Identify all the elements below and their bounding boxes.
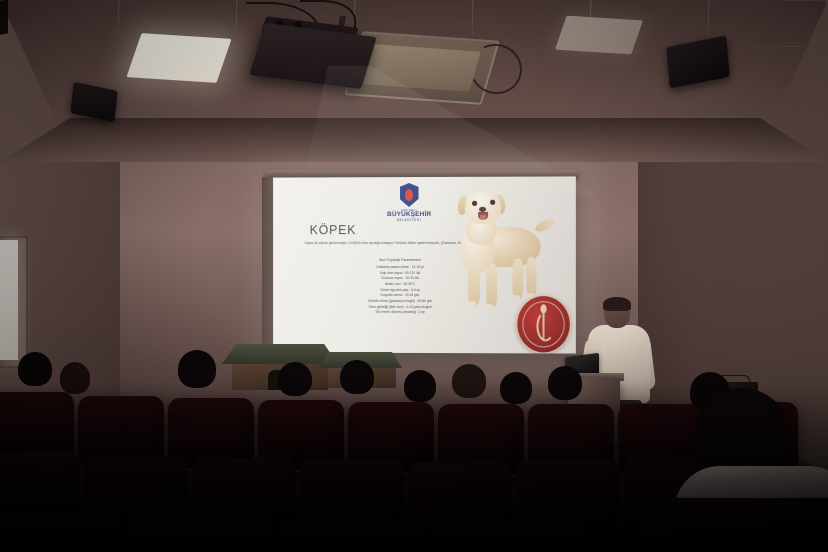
dog-paw xyxy=(467,301,476,306)
audience-head xyxy=(340,360,374,394)
seat xyxy=(432,520,582,552)
seat xyxy=(0,516,120,552)
audience-head xyxy=(548,366,582,400)
seat xyxy=(278,520,428,552)
dog-paw xyxy=(511,295,520,300)
audience-head xyxy=(452,364,486,398)
dog-paw xyxy=(485,304,494,309)
crest-icon xyxy=(400,183,419,207)
audience-head xyxy=(500,372,532,404)
dog-leg-front-right xyxy=(486,263,497,307)
municipality-logo: KOCAELİ BÜYÜKŞEHİR BELEDİYESİ xyxy=(387,183,431,222)
dog-eye-right xyxy=(490,200,495,205)
dog-leg-rear-right xyxy=(512,259,523,299)
seat xyxy=(640,498,828,552)
kennel-roof xyxy=(222,344,338,364)
logo-line-3: BELEDİYESİ xyxy=(387,218,431,222)
glasses-icon xyxy=(606,309,628,315)
ceiling-soffit xyxy=(0,118,828,162)
dog-leg-rear-left xyxy=(526,257,536,297)
ceiling-hatch-inner xyxy=(363,44,480,92)
snake-icon xyxy=(536,311,554,341)
dog-tail xyxy=(534,216,557,234)
auditorium-photo: KOCAELİ BÜYÜKŞEHİR BELEDİYESİ KÖPEK Köpe… xyxy=(0,0,828,552)
dog-tongue xyxy=(480,215,486,220)
dog-eye-left xyxy=(472,201,477,206)
projection-screen: KOCAELİ BÜYÜKŞEHİR BELEDİYESİ KÖPEK Köpe… xyxy=(273,176,576,353)
ceiling-light-panel-secondary xyxy=(555,16,643,55)
audience-head xyxy=(178,350,216,388)
audience-head xyxy=(404,370,436,402)
ceiling-light-panel xyxy=(126,33,231,83)
slide-title: KÖPEK xyxy=(310,223,357,237)
dog-photo xyxy=(450,185,555,314)
audience-head xyxy=(278,362,312,396)
side-door-glass xyxy=(0,240,18,360)
flame-icon xyxy=(540,304,546,313)
seat xyxy=(124,518,274,552)
wall-speaker-right-bracket xyxy=(0,0,8,35)
veterinary-chamber-seal xyxy=(516,295,571,353)
audience-head xyxy=(18,352,52,386)
audience-head xyxy=(60,362,90,394)
